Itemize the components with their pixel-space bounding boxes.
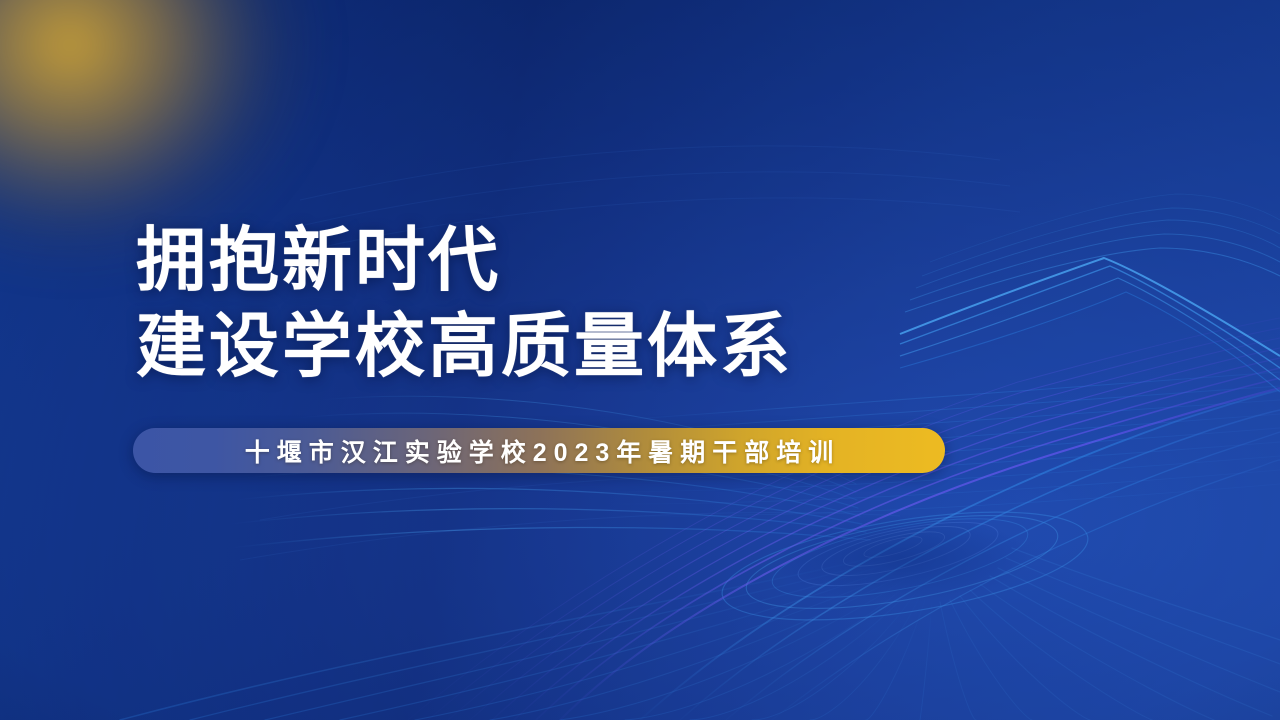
subtitle-ribbon-banner: 十堰市汉江实验学校2023年暑期干部培训 [133, 428, 945, 473]
subtitle-ribbon-text: 十堰市汉江实验学校2023年暑期干部培训 [238, 433, 841, 469]
poster-stage: 拥抱新时代 建设学校高质量体系 十堰市汉江实验学校2023年暑期干部培训 [0, 0, 1280, 720]
headline-line-2: 建设学校高质量体系 [136, 304, 1036, 388]
headline-line-1: 拥抱新时代 [136, 218, 1036, 302]
headline-block: 拥抱新时代 建设学校高质量体系 [136, 218, 1036, 388]
